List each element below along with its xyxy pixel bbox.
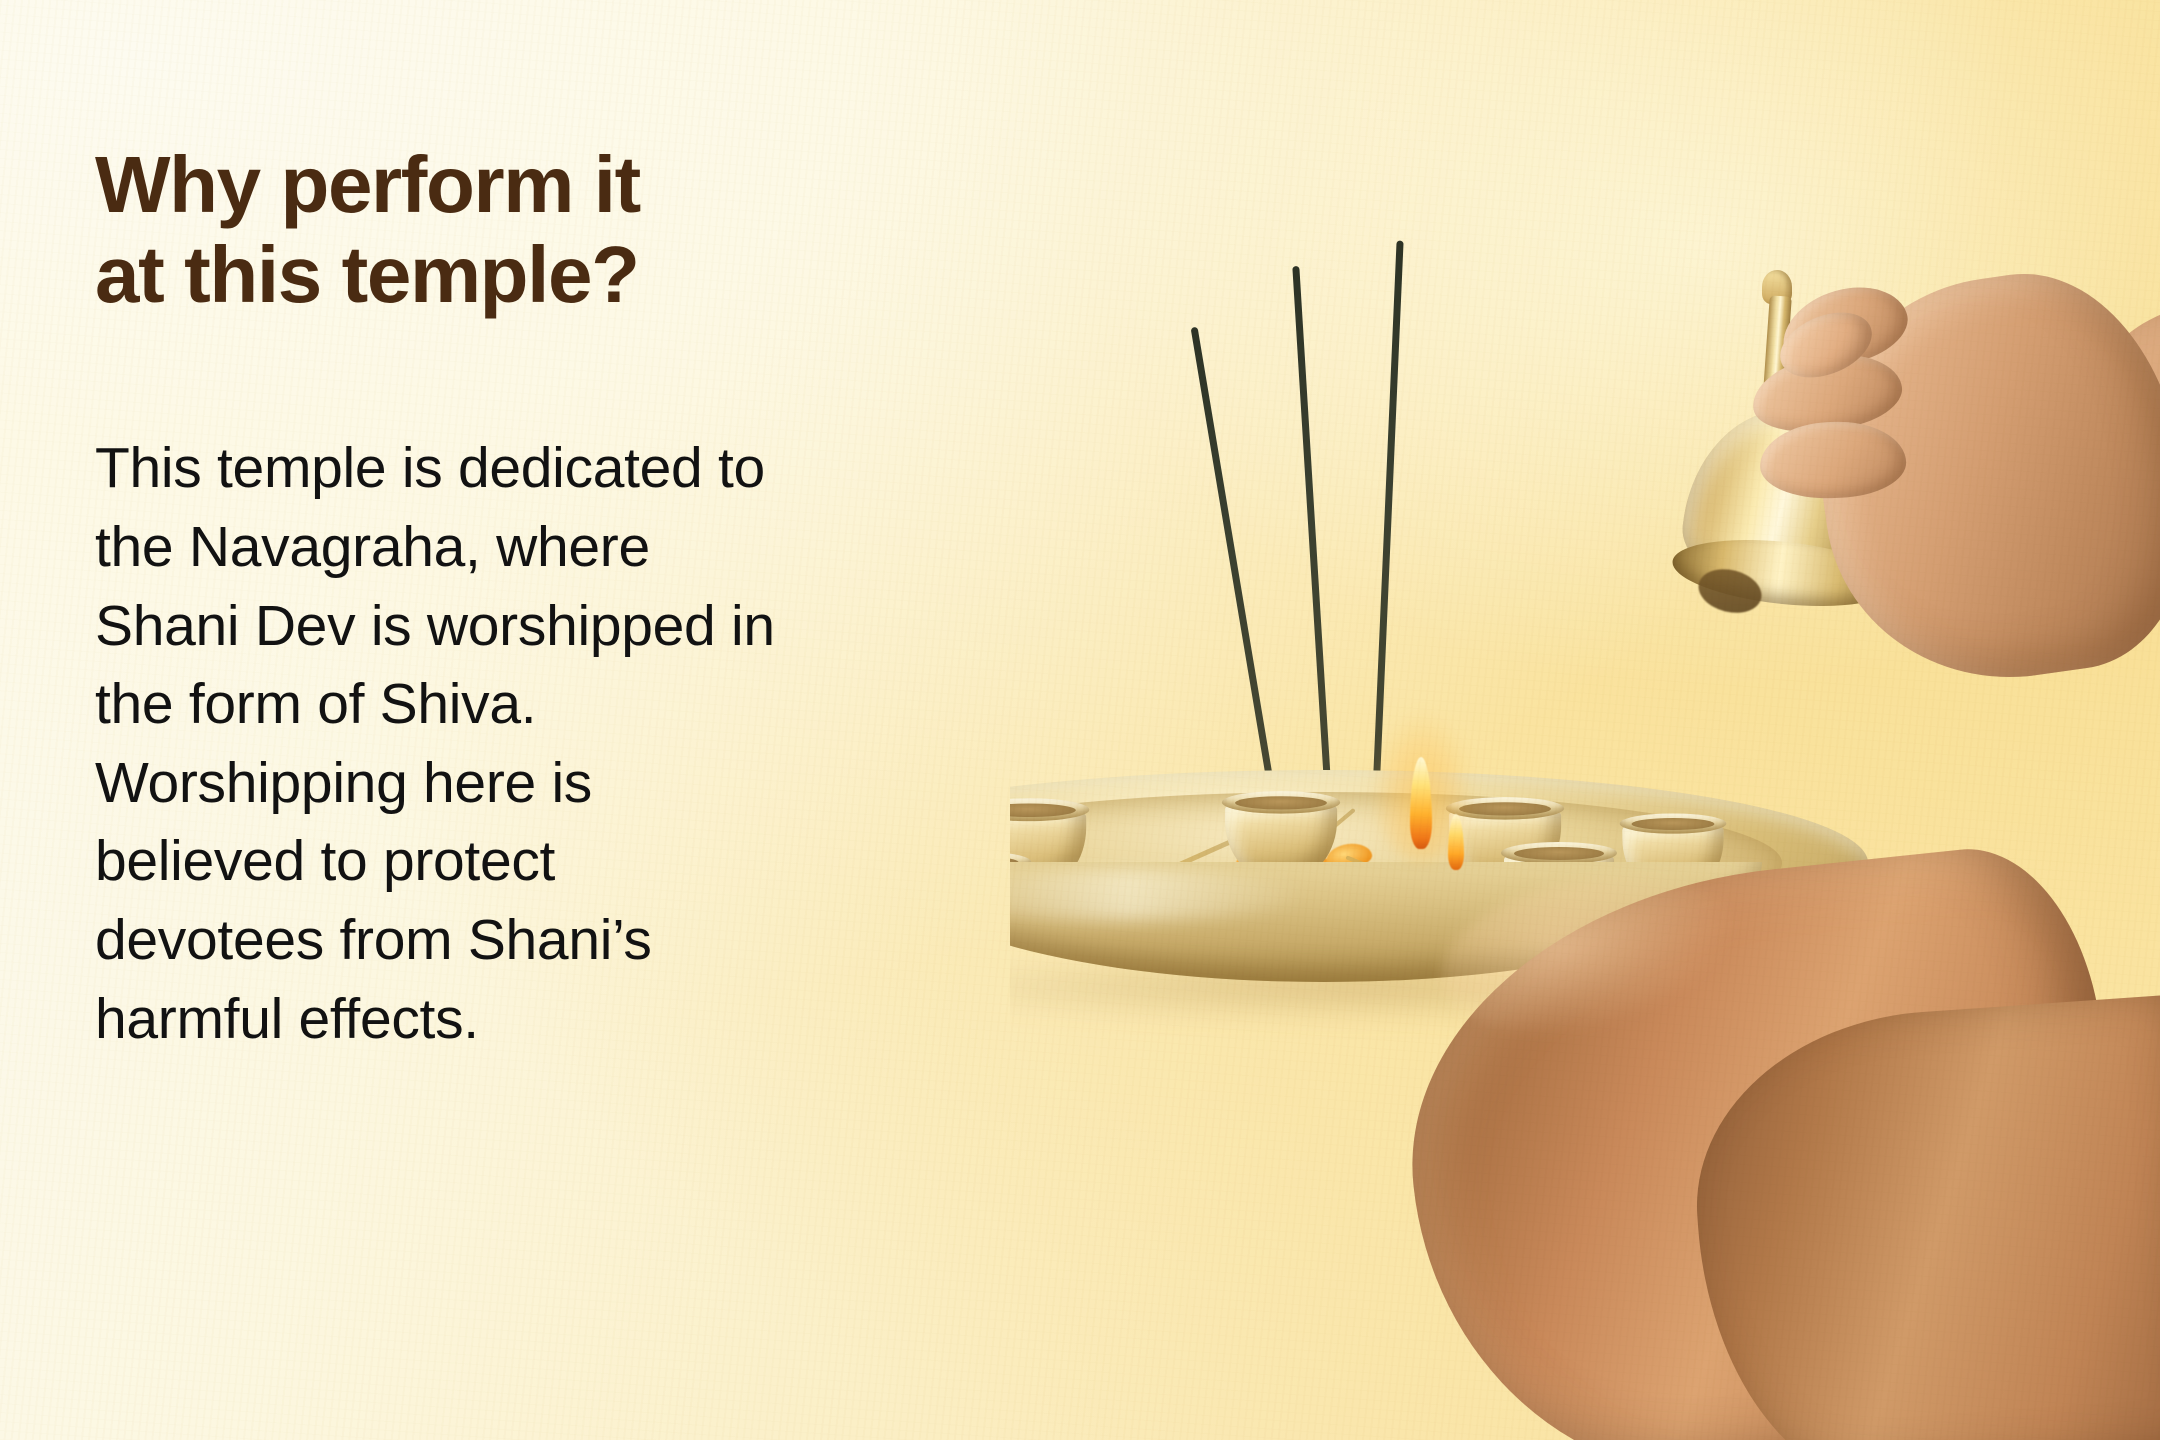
headline-line-1: Why perform it [95, 140, 1095, 230]
body-line: the Navagraha, where [95, 508, 1035, 587]
body-line: Worshipping here is [95, 744, 1035, 823]
incense-stick-icon [1292, 266, 1335, 850]
body-line: This temple is dedicated to [95, 429, 1035, 508]
body-paragraph: This temple is dedicated to the Navagrah… [95, 319, 1035, 1058]
diya-flame-icon [1440, 800, 1474, 870]
body-line: harmful effects. [95, 980, 1035, 1059]
headline-line-2: at this temple? [95, 230, 1095, 320]
diya-flame-icon [1398, 733, 1444, 849]
body-line: Shani Dev is worshipped in [95, 587, 1035, 666]
text-column: Why perform it at this temple? This temp… [95, 140, 1095, 1058]
body-line: believed to protect [95, 822, 1035, 901]
body-line: the form of Shiva. [95, 665, 1035, 744]
puja-aarti-photo [1010, 0, 2160, 1440]
bell-and-hand-group [1610, 270, 2160, 790]
page-title: Why perform it at this temple? [95, 140, 1095, 319]
promo-card: Why perform it at this temple? This temp… [0, 0, 2160, 1440]
body-line: devotees from Shani’s [95, 901, 1035, 980]
